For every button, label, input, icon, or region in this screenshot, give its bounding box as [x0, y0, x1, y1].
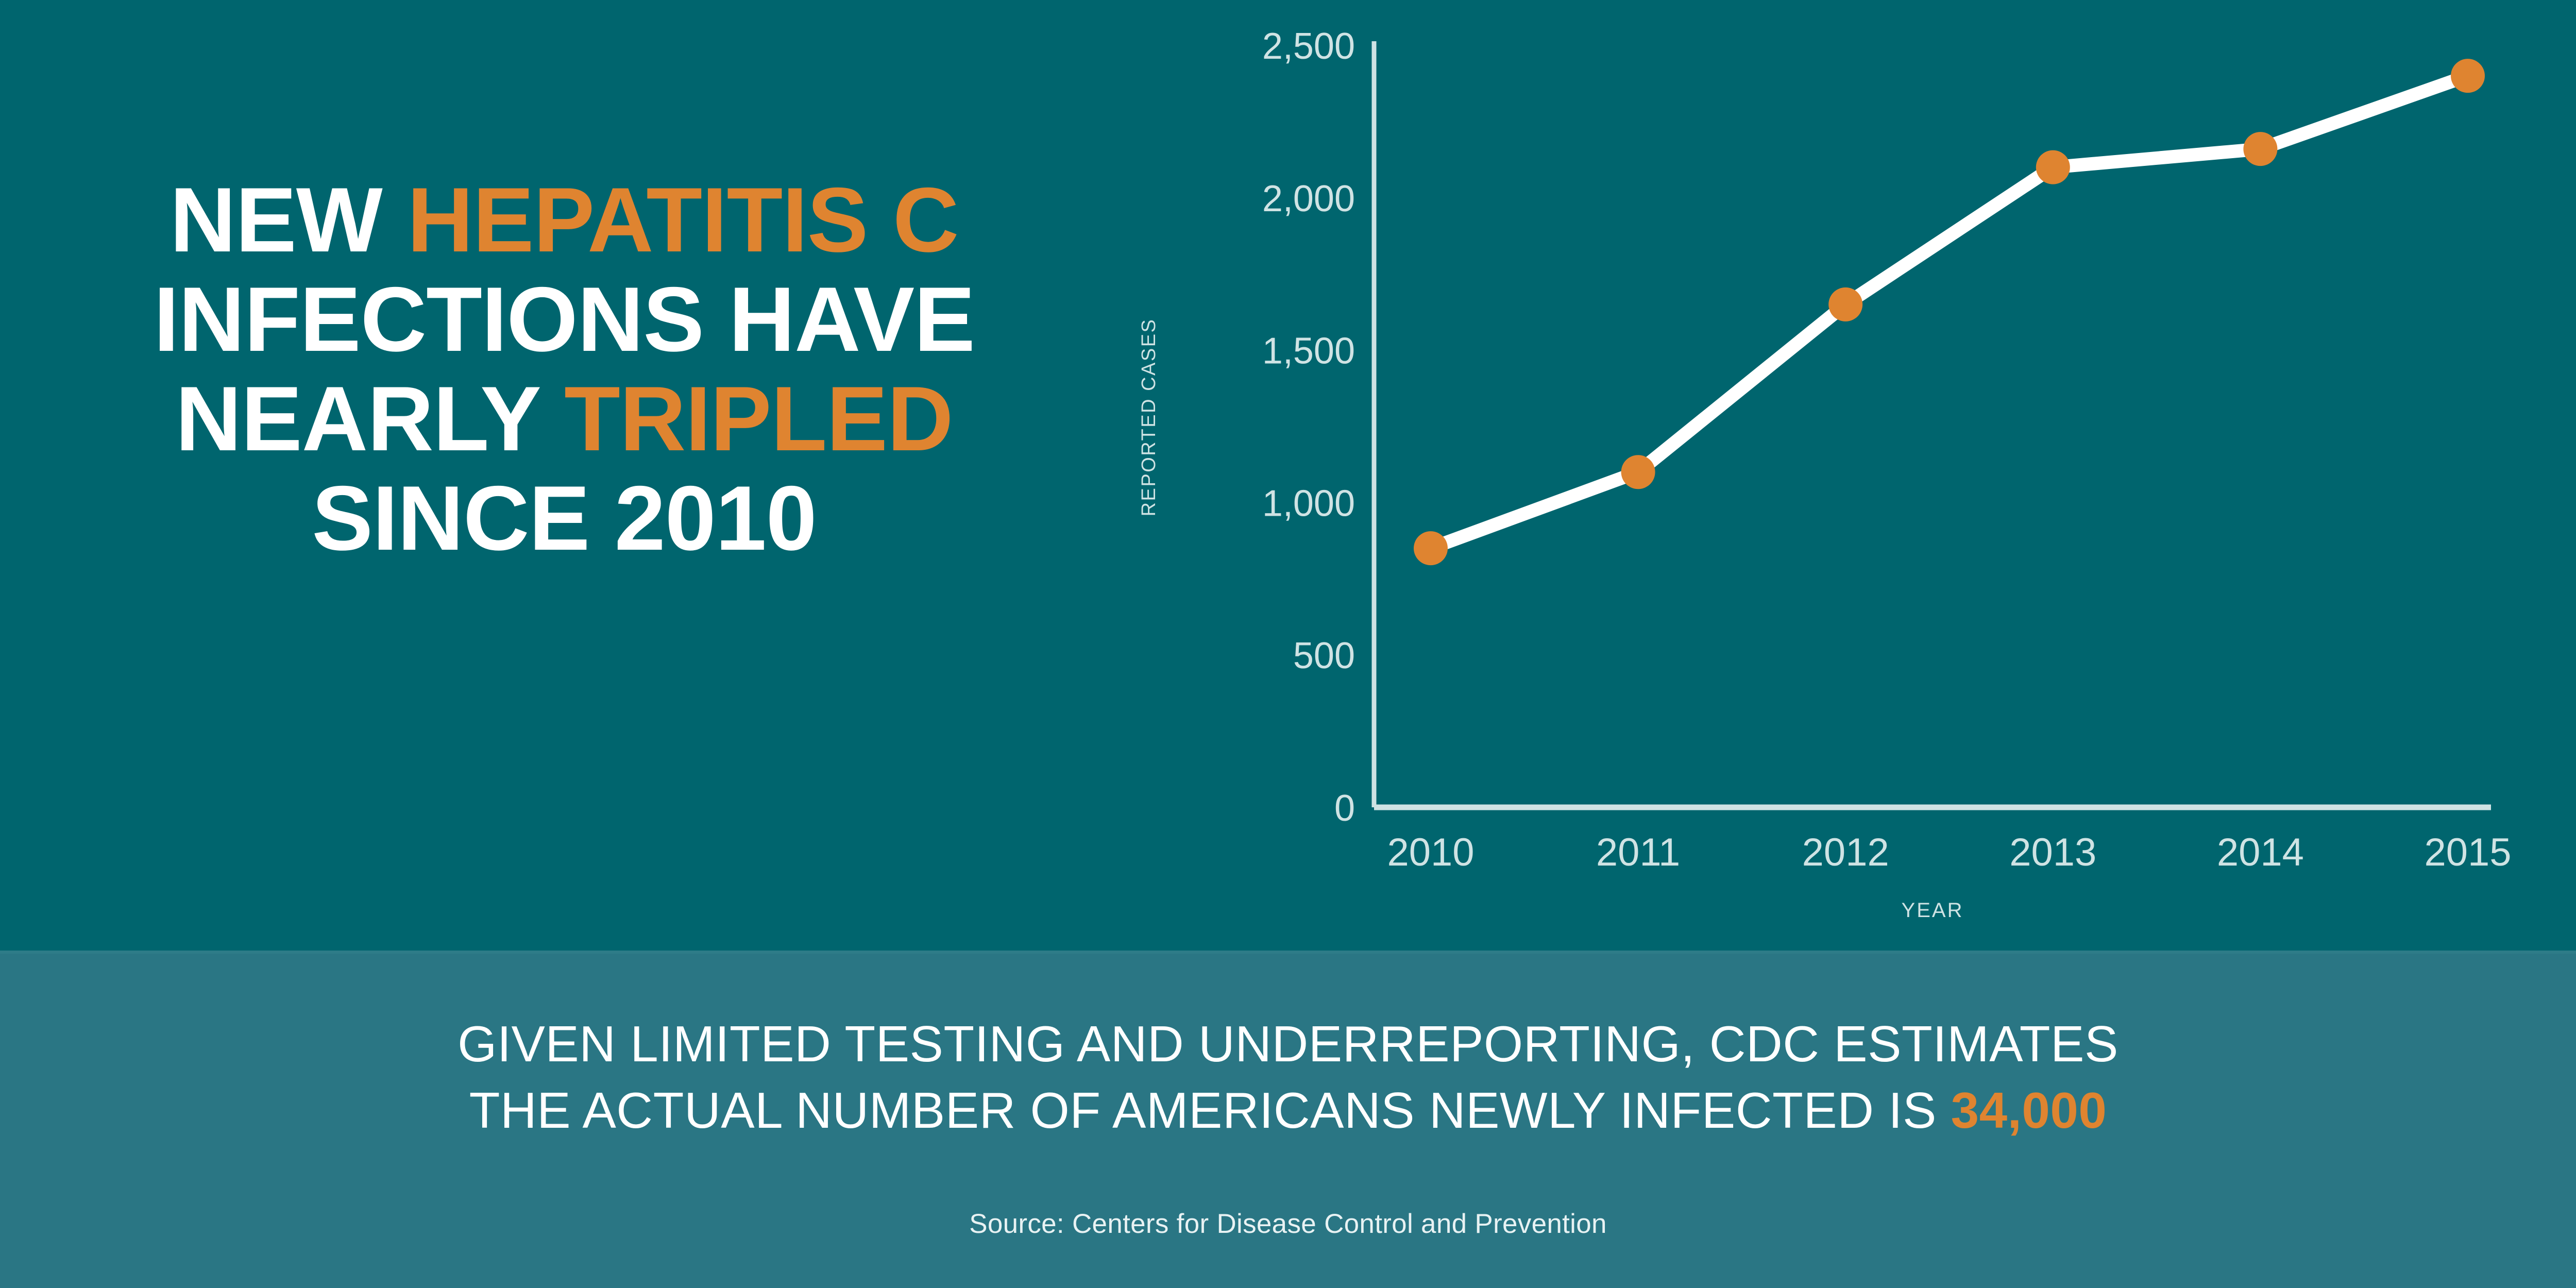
chart-canvas: REPORTED CASES 05001,0001,5002,0002,500 … [1123, 21, 2524, 948]
data-point-marker [1414, 531, 1448, 565]
caption-estimate-number: 34,000 [1951, 1082, 2107, 1139]
infographic-root: NEW HEPATITIS C INFECTIONS HAVE NEARLY T… [0, 0, 2576, 1288]
headline-line-1: NEW HEPATITIS C [52, 170, 1077, 269]
data-point-marker [1828, 287, 1862, 321]
data-point-marker [1621, 455, 1655, 489]
y-axis-tick-label: 2,000 [1262, 178, 1355, 219]
headline-line-1-white: NEW [170, 168, 408, 271]
x-axis-tick-label: 2011 [1596, 831, 1680, 874]
data-point-marker [2036, 150, 2070, 184]
headline-line-1-orange: HEPATITIS C [407, 168, 958, 271]
headline-line-3-white: NEARLY [175, 367, 564, 470]
headline-line-3: NEARLY TRIPLED [52, 369, 1077, 468]
line-chart: REPORTED CASES 05001,0001,5002,0002,500 … [1123, 21, 2524, 948]
y-axis-tick-label: 1,000 [1262, 483, 1355, 524]
caption-line-1: GIVEN LIMITED TESTING AND UNDERREPORTING… [258, 1011, 2318, 1077]
y-axis-tick-label: 2,500 [1262, 26, 1355, 67]
headline-line-2: INFECTIONS HAVE [52, 269, 1077, 369]
y-axis-title: REPORTED CASES [1138, 318, 1160, 517]
y-axis-tick-label: 500 [1293, 635, 1355, 676]
x-axis-tick-label: 2015 [2424, 831, 2511, 874]
headline: NEW HEPATITIS C INFECTIONS HAVE NEARLY T… [52, 170, 1077, 568]
headline-line-3-orange: TRIPLED [564, 367, 953, 470]
x-axis-tick-label: 2013 [2009, 831, 2096, 874]
caption-line-2-prefix: THE ACTUAL NUMBER OF AMERICANS NEWLY INF… [469, 1082, 1951, 1139]
x-axis-tick-label: 2014 [2217, 831, 2304, 874]
y-axis-tick-label: 1,500 [1262, 331, 1355, 372]
y-axis-tick-label: 0 [1334, 788, 1355, 829]
caption-line-2: THE ACTUAL NUMBER OF AMERICANS NEWLY INF… [258, 1077, 2318, 1144]
data-point-marker [2451, 59, 2485, 93]
x-axis-title: YEAR [1902, 899, 1964, 922]
data-point-marker [2243, 132, 2277, 166]
x-axis-tick-labels: 201020112012201320142015 [1387, 831, 2511, 874]
caption: GIVEN LIMITED TESTING AND UNDERREPORTING… [258, 1011, 2318, 1144]
x-axis-tick-label: 2010 [1387, 831, 1474, 874]
headline-line-4: SINCE 2010 [52, 468, 1077, 568]
y-axis-tick-labels: 05001,0001,5002,0002,500 [1262, 26, 1355, 829]
source-attribution: Source: Centers for Disease Control and … [258, 1208, 2318, 1240]
series-line [1431, 76, 2468, 548]
x-axis-tick-label: 2012 [1802, 831, 1889, 874]
